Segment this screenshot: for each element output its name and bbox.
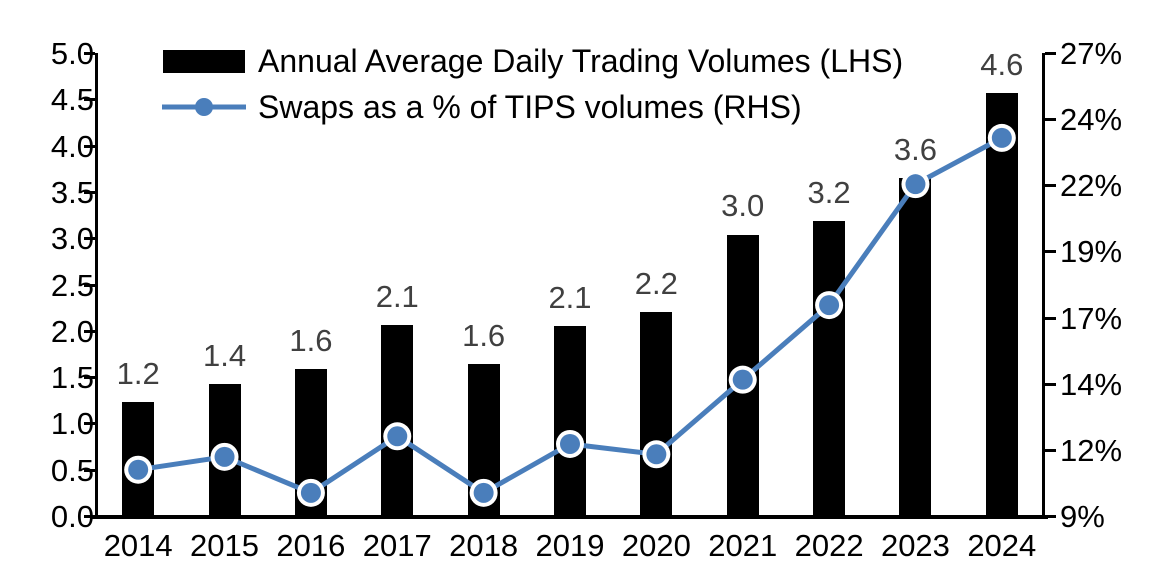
bar-data-label: 1.6	[440, 320, 526, 351]
y-axis-left-tick-label: 0.5	[4, 455, 94, 486]
bar	[986, 93, 1018, 516]
y-axis-right-tick	[1045, 449, 1056, 452]
legend-item-bar: Annual Average Daily Trading Volumes (LH…	[160, 38, 903, 84]
x-axis-tick-label: 2021	[700, 530, 786, 561]
bar	[899, 178, 931, 516]
y-axis-right-tick	[1045, 118, 1056, 121]
x-axis-tick-label: 2019	[527, 530, 613, 561]
y-axis-left-tick-label: 2.0	[4, 316, 94, 347]
bar	[209, 384, 241, 516]
y-axis-left-tick-label: 3.0	[4, 223, 94, 254]
y-axis-left-tick	[84, 98, 95, 101]
y-axis-right-tick-label: 24%	[1060, 104, 1150, 135]
bar	[122, 402, 154, 516]
y-axis-left-tick	[84, 191, 95, 194]
bar-data-label: 2.2	[613, 268, 699, 299]
x-axis-tick-label: 2014	[95, 530, 181, 561]
y-axis-right-tick	[1045, 184, 1056, 187]
bar	[727, 235, 759, 517]
y-axis-left-tick-label: 1.0	[4, 408, 94, 439]
y-axis-right-tick	[1045, 383, 1056, 386]
x-axis-tick-label: 2022	[786, 530, 872, 561]
bar-data-label: 2.1	[527, 282, 613, 313]
line-marker-swatch-icon	[160, 92, 248, 122]
y-axis-right-tick	[1045, 52, 1056, 55]
y-axis-left-tick-label: 2.5	[4, 270, 94, 301]
chart-container: 0.00.51.01.52.02.53.03.54.04.55.0 9%12%1…	[0, 0, 1152, 584]
y-axis-left-tick-label: 3.5	[4, 177, 94, 208]
y-axis-right-tick-label: 19%	[1060, 236, 1150, 267]
legend-label-bar: Annual Average Daily Trading Volumes (LH…	[258, 45, 903, 77]
y-axis-right-tick-label: 12%	[1060, 435, 1150, 466]
y-axis-right-tick-label: 22%	[1060, 170, 1150, 201]
y-axis-left-tick-label: 4.0	[4, 131, 94, 162]
y-axis-left-tick	[84, 52, 95, 55]
legend-item-line: Swaps as a % of TIPS volumes (RHS)	[160, 84, 903, 130]
bar-data-label: 2.1	[354, 281, 440, 312]
y-axis-right-tick-label: 9%	[1060, 501, 1150, 532]
y-axis-left-tick	[84, 237, 95, 240]
y-axis-left-tick-label: 4.5	[4, 84, 94, 115]
y-axis-right-tick-label: 27%	[1060, 38, 1150, 69]
bar-data-label: 1.4	[181, 340, 267, 371]
bar-data-label: 1.6	[268, 325, 354, 356]
bar-data-label: 1.2	[95, 358, 181, 389]
y-axis-left-tick-label: 5.0	[4, 38, 94, 69]
y-axis-left-line	[95, 53, 98, 516]
y-axis-left-tick	[84, 284, 95, 287]
legend: Annual Average Daily Trading Volumes (LH…	[160, 38, 903, 130]
x-axis-tick-label: 2015	[181, 530, 267, 561]
y-axis-left-tick	[84, 376, 95, 379]
x-axis-tick-label: 2024	[959, 530, 1045, 561]
y-axis-left-tick	[84, 469, 95, 472]
y-axis-right-tick	[1045, 250, 1056, 253]
y-axis-right-tick-label: 14%	[1060, 369, 1150, 400]
x-axis-tick-label: 2016	[268, 530, 354, 561]
x-axis-tick-label: 2018	[440, 530, 526, 561]
bar	[381, 325, 413, 516]
bar	[640, 312, 672, 516]
bar-data-label: 4.6	[959, 49, 1045, 80]
bar-data-label: 3.2	[786, 177, 872, 208]
y-axis-right-line	[1042, 53, 1045, 516]
bar-data-label: 3.0	[700, 190, 786, 221]
y-axis-left-tick	[84, 515, 95, 518]
bar	[468, 364, 500, 516]
legend-label-line: Swaps as a % of TIPS volumes (RHS)	[258, 91, 802, 123]
x-axis-tick-label: 2020	[613, 530, 699, 561]
y-axis-right-tick	[1045, 317, 1056, 320]
bar-data-label: 3.6	[872, 134, 958, 165]
y-axis-left-tick	[84, 330, 95, 333]
bar	[295, 369, 327, 516]
bar	[554, 326, 586, 516]
bar-swatch-icon	[160, 50, 248, 73]
y-axis-right-tick-label: 17%	[1060, 303, 1150, 334]
y-axis-left-tick	[84, 145, 95, 148]
bar	[813, 221, 845, 516]
y-axis-left-tick	[84, 422, 95, 425]
x-axis-tick-label: 2023	[872, 530, 958, 561]
y-axis-left-tick-label: 0.0	[4, 501, 94, 532]
y-axis-left-tick-label: 1.5	[4, 362, 94, 393]
y-axis-right-tick	[1045, 515, 1056, 518]
x-axis-tick-label: 2017	[354, 530, 440, 561]
